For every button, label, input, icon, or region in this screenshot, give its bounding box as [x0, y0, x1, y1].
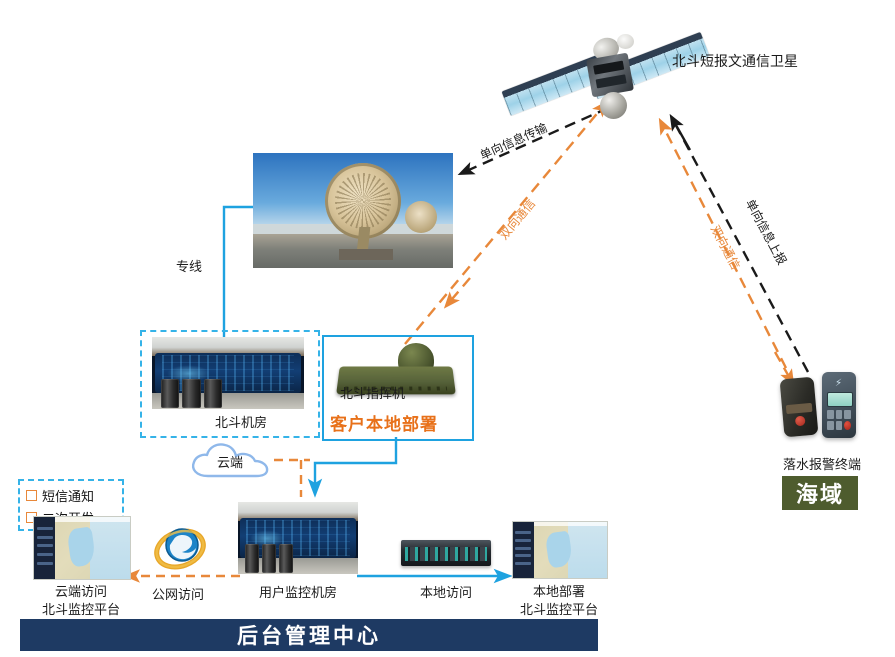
- cloud-label: 云端: [186, 452, 274, 471]
- beidou-room-photo: [152, 337, 304, 409]
- diagram-canvas: 北斗短报文通信卫星 单向信息传输 双向通信 单向信息上报 双向通信 专线 北斗机…: [0, 0, 895, 657]
- cloud-platform-label-line1: 云端访问: [18, 583, 144, 601]
- internet-explorer-icon: [152, 521, 208, 571]
- sea-area-label: 海域: [796, 477, 844, 509]
- customer-deployment-label: 客户本地部署: [330, 410, 438, 435]
- terminal-label: 落水报警终端: [762, 456, 882, 474]
- rack-server-icon: [401, 540, 491, 566]
- satellite-label: 北斗短报文通信卫星: [672, 52, 798, 71]
- sms-icon: [26, 490, 37, 501]
- notify-item-sms-label: 短信通知: [42, 486, 94, 505]
- cloud-icon: 云端: [186, 440, 274, 482]
- sea-area-badge: 海域: [782, 476, 858, 510]
- bottom-banner-label: 后台管理中心: [237, 620, 381, 650]
- notify-item-sms: 短信通知: [26, 484, 116, 506]
- bottom-banner: 后台管理中心: [20, 619, 598, 651]
- link-label-uplink-downlink: 单向信息传输: [477, 119, 550, 164]
- user-room-photo: [238, 502, 358, 574]
- handheld-alarm-icon: ⚡: [822, 372, 856, 438]
- link-label-bidirectional-right: 双向通信: [707, 222, 745, 272]
- command-machine-label: 北斗指挥机: [340, 385, 405, 403]
- public-access-label: 公网访问: [152, 586, 204, 604]
- user-room-label: 用户监控机房: [238, 584, 358, 602]
- link-label-report-uplink: 单向信息上报: [742, 196, 791, 268]
- ground-station-photo: [253, 153, 453, 268]
- beidou-room-label: 北斗机房: [215, 414, 267, 432]
- local-platform-label-line1: 本地部署: [496, 583, 622, 601]
- link-label-bidirectional-left: 双向通信: [495, 195, 539, 243]
- handheld-beacon-icon: [780, 377, 819, 438]
- cloud-platform-label-line2: 北斗监控平台: [18, 601, 144, 619]
- link-label-dedicated-line: 专线: [176, 258, 202, 276]
- cloud-platform-screenshot: [33, 516, 131, 580]
- local-platform-label-line2: 北斗监控平台: [496, 601, 622, 619]
- local-platform-screenshot: [512, 521, 608, 579]
- local-access-label: 本地访问: [396, 584, 496, 602]
